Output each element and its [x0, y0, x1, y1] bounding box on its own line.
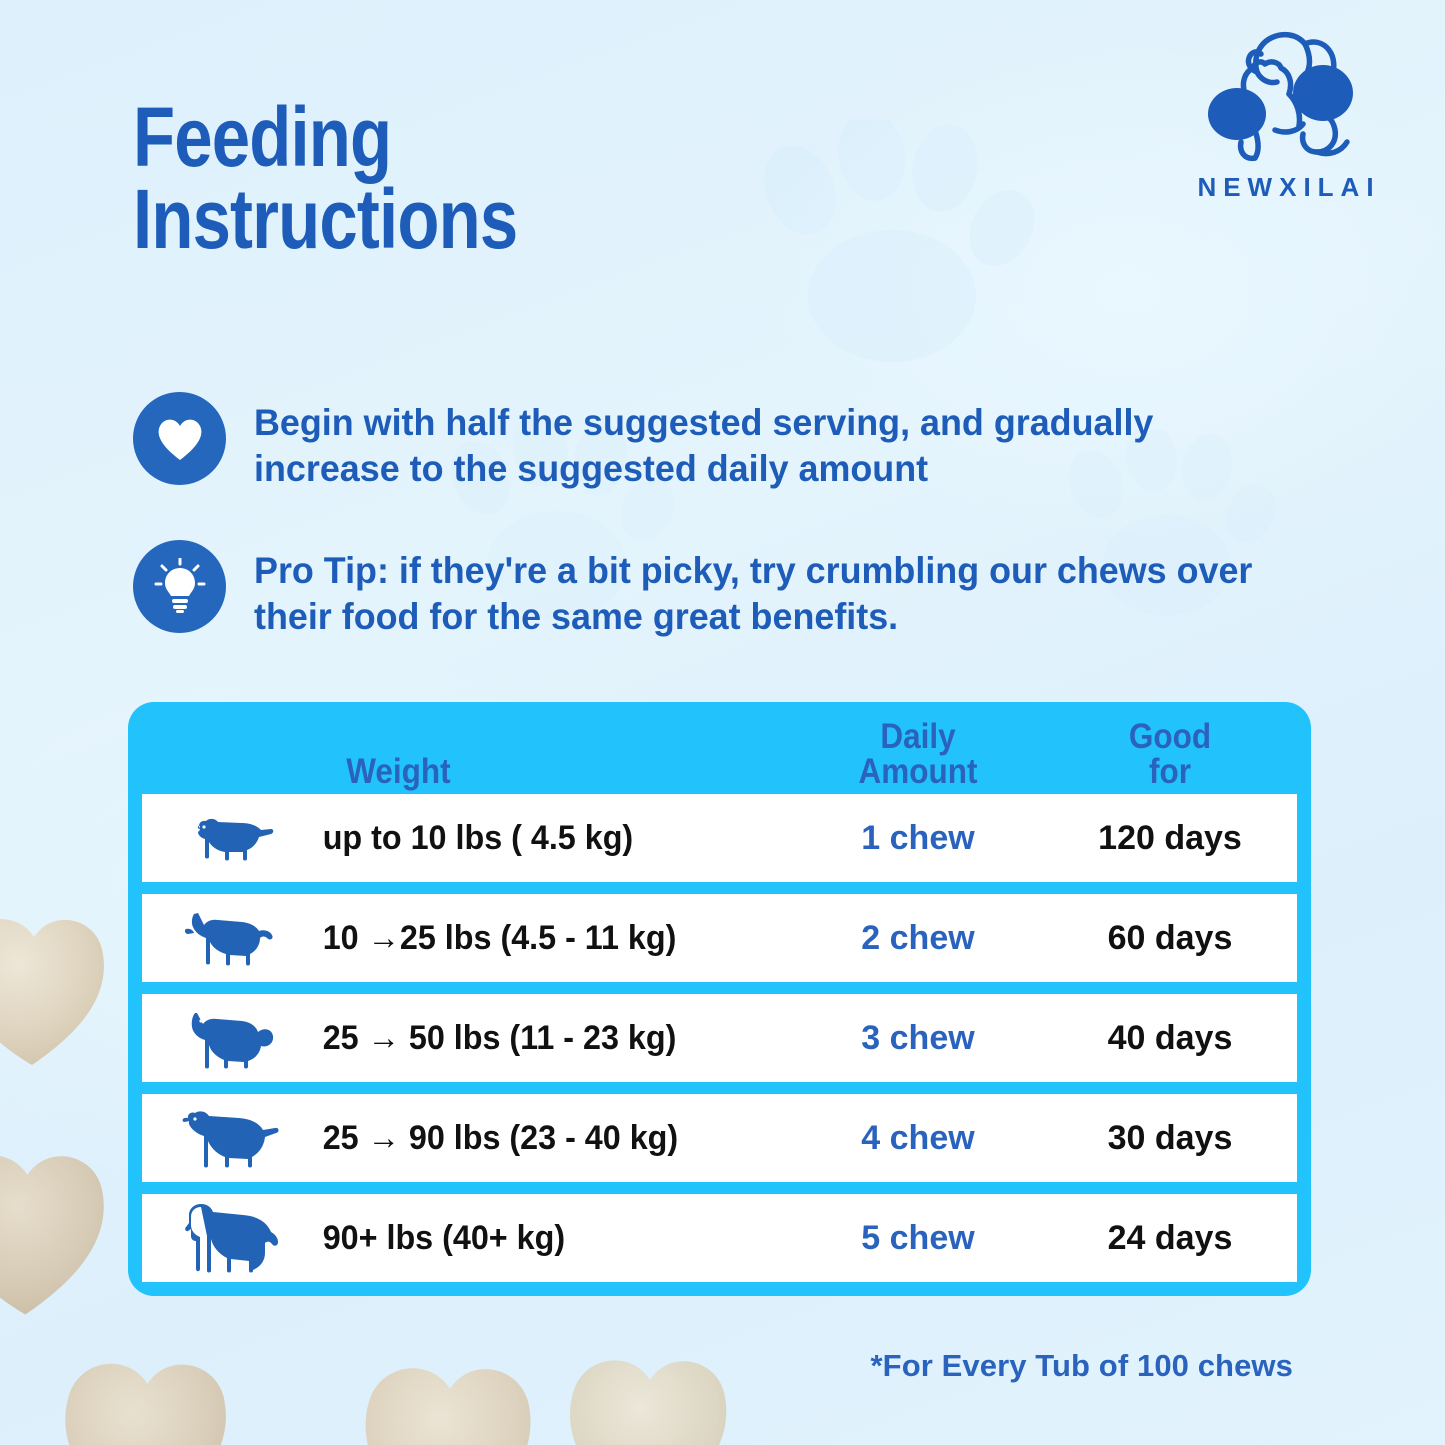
small-dog-icon: [142, 907, 317, 969]
infographic-page: Feeding Instructions: [0, 0, 1445, 1445]
column-header-weight: Weight: [341, 754, 769, 794]
weight-value: 25 → 50 lbs (11 - 23 kg): [317, 1019, 769, 1058]
good-for-value: 30 days: [1043, 1119, 1297, 1158]
extra-large-dog-icon: [142, 1201, 317, 1275]
daily-amount-value: 1 chew: [793, 819, 1043, 858]
lightbulb-icon: [133, 540, 226, 633]
weight-value: up to 10 lbs ( 4.5 kg): [317, 819, 769, 858]
daily-amount-value: 4 chew: [793, 1119, 1043, 1158]
chew-treat-image: [0, 905, 114, 1070]
weight-value: 25 → 90 lbs (23 - 40 kg): [317, 1119, 769, 1158]
table-row: 90+ lbs (40+ kg) 5 chew 24 days: [142, 1194, 1297, 1282]
paw-print-watermark-icon: [740, 120, 1040, 380]
medium-dog-icon: [142, 1005, 317, 1071]
daily-amount-value: 2 chew: [793, 919, 1043, 958]
note-item: Begin with half the suggested serving, a…: [133, 392, 1333, 493]
table-row: 25 → 90 lbs (23 - 40 kg) 4 chew 30 days: [142, 1094, 1297, 1182]
dog-and-cat-logo-icon: [1171, 18, 1407, 170]
footnote: *For Every Tub of 100 chews: [871, 1348, 1294, 1384]
heart-icon: [133, 392, 226, 485]
brand-name: NEWXILAI: [1171, 172, 1407, 203]
weight-value: 90+ lbs (40+ kg): [317, 1219, 769, 1258]
large-dog-icon: [142, 1106, 317, 1170]
notes-list: Begin with half the suggested serving, a…: [133, 392, 1333, 687]
column-header-good-for: Good for: [1056, 719, 1285, 794]
good-for-value: 24 days: [1043, 1219, 1297, 1258]
page-title: Feeding Instructions: [133, 96, 723, 261]
column-header-daily-amount: Daily Amount: [806, 719, 1031, 794]
daily-amount-value: 5 chew: [793, 1219, 1043, 1258]
column-header-icon: [151, 790, 309, 794]
chew-treat-image: [560, 1345, 740, 1445]
weight-value: 10 →25 lbs (4.5 - 11 kg): [317, 919, 769, 958]
brand-logo: NEWXILAI: [1171, 18, 1407, 203]
table-row: 10 →25 lbs (4.5 - 11 kg) 2 chew 60 days: [142, 894, 1297, 982]
daily-amount-value: 3 chew: [793, 1019, 1043, 1058]
chew-treat-image: [0, 1140, 115, 1320]
note-item: Pro Tip: if they're a bit picky, try cru…: [133, 540, 1333, 641]
note-text: Pro Tip: if they're a bit picky, try cru…: [254, 540, 1301, 641]
note-text: Begin with half the suggested serving, a…: [254, 392, 1301, 493]
chew-treat-image: [355, 1352, 545, 1445]
table-header-row: Weight Daily Amount Good for: [128, 702, 1311, 794]
good-for-value: 60 days: [1043, 919, 1297, 958]
good-for-value: 40 days: [1043, 1019, 1297, 1058]
good-for-value: 120 days: [1043, 819, 1297, 858]
table-row: up to 10 lbs ( 4.5 kg) 1 chew 120 days: [142, 794, 1297, 882]
feeding-table: Weight Daily Amount Good for up to 10 lb…: [128, 702, 1311, 1296]
table-row: 25 → 50 lbs (11 - 23 kg) 3 chew 40 days: [142, 994, 1297, 1082]
chew-treat-image: [55, 1348, 240, 1445]
puppy-icon: [142, 812, 317, 864]
